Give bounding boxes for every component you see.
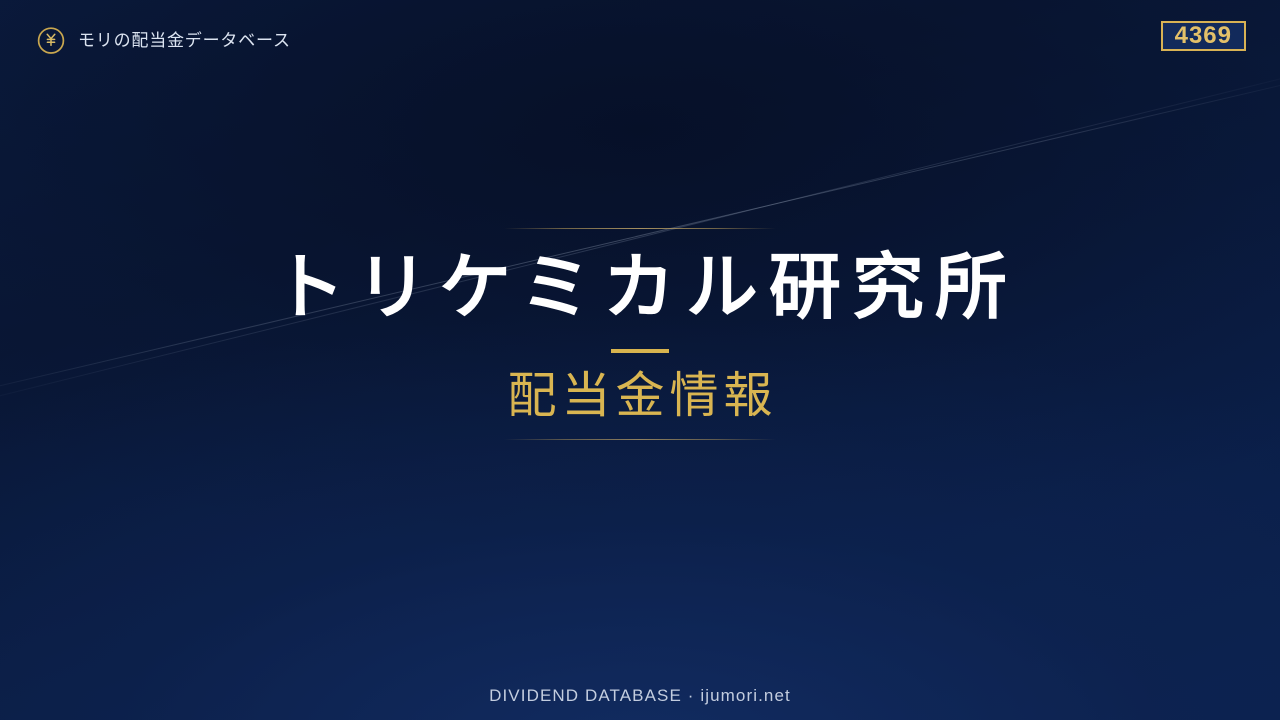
page-subtitle: 配当金情報 xyxy=(0,371,1280,422)
page-title: トリケミカル研究所 xyxy=(0,251,1280,327)
yen-circle-icon xyxy=(36,25,66,55)
title-slide: モリの配当金データベース 4369 トリケミカル研究所 配当金情報 DIVIDE… xyxy=(0,0,1280,720)
page-header: モリの配当金データベース 4369 xyxy=(0,0,1280,74)
footer-caption: DIVIDEND DATABASE · ijumori.net xyxy=(0,686,1280,706)
hero-top-rule xyxy=(504,228,776,229)
brand-title: モリの配当金データベース xyxy=(78,32,291,49)
brand-lockup[interactable]: モリの配当金データベース xyxy=(36,25,291,55)
gold-divider xyxy=(611,349,669,353)
ticker-code-badge: 4369 xyxy=(1161,21,1246,51)
hero-bottom-rule xyxy=(504,439,776,440)
hero-block: トリケミカル研究所 配当金情報 xyxy=(0,228,1280,440)
